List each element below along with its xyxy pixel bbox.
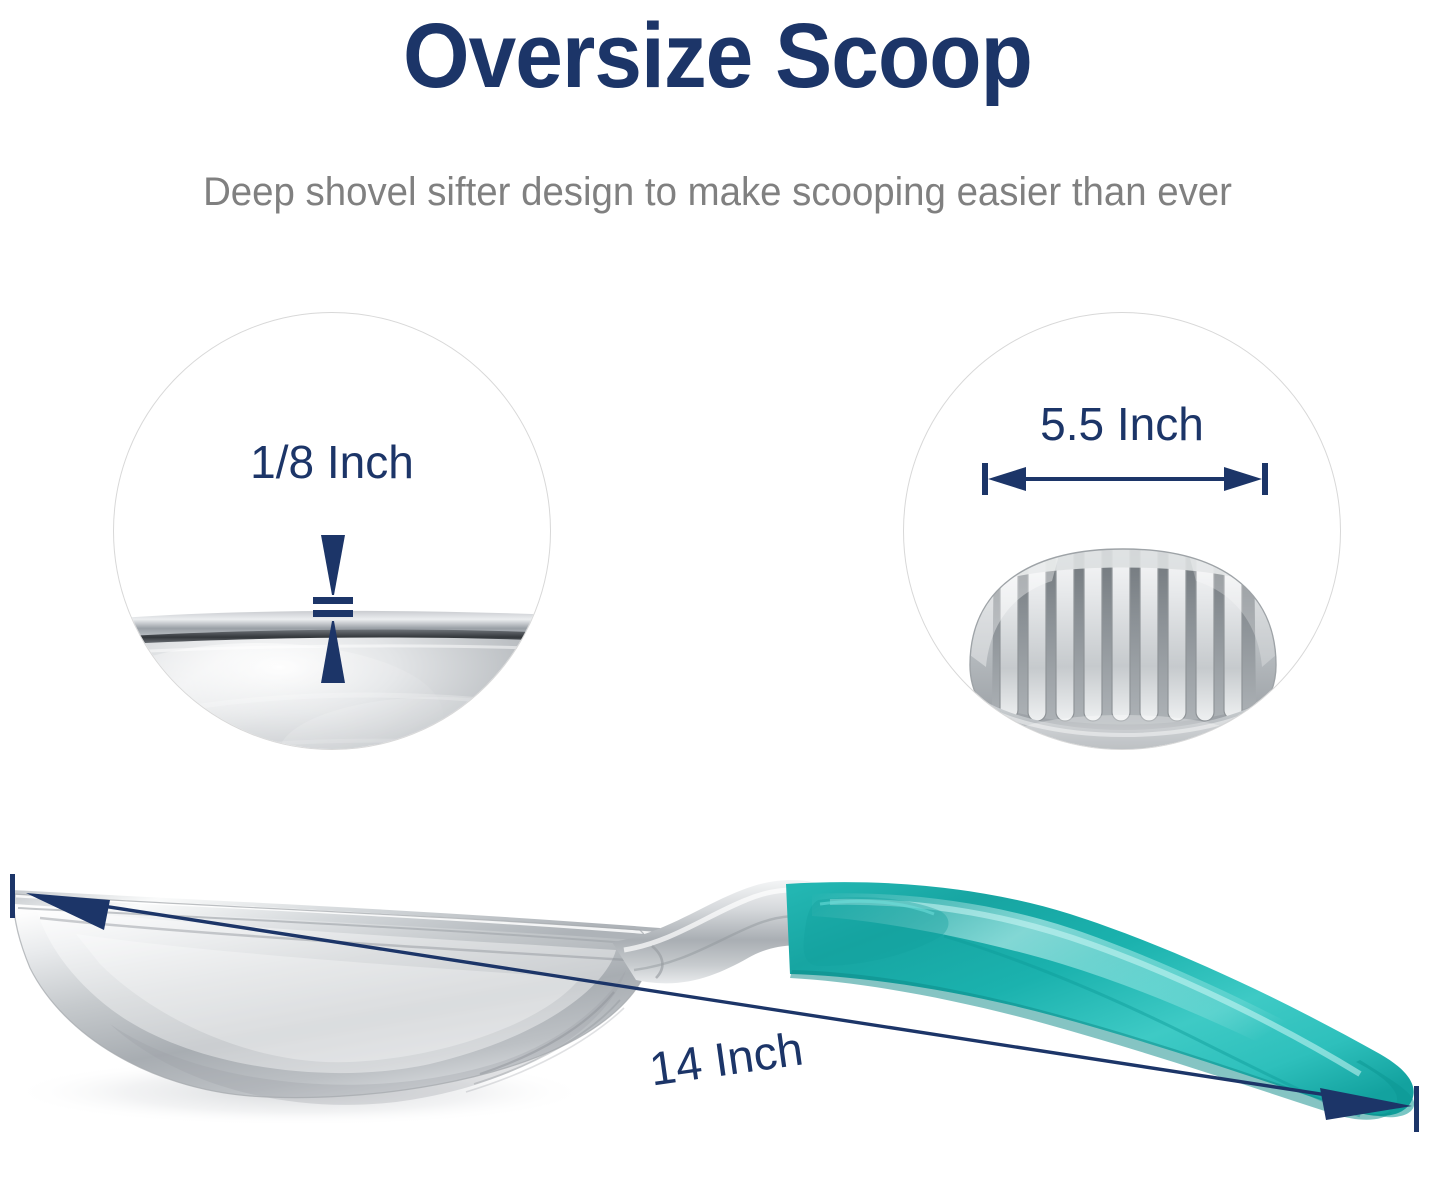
header: Oversize Scoop Deep shovel sifter design… bbox=[0, 0, 1435, 240]
scoop-product-illustration bbox=[0, 838, 1435, 1189]
product-photo bbox=[0, 838, 1435, 1189]
width-dimension-label: 5.5 Inch bbox=[904, 397, 1340, 451]
product-infographic: Oversize Scoop Deep shovel sifter design… bbox=[0, 0, 1435, 1189]
detail-circle-width: 5.5 Inch bbox=[903, 312, 1341, 750]
detail-circle-thickness: 1/8 Inch bbox=[113, 312, 551, 750]
horizontal-double-arrow-icon bbox=[982, 461, 1268, 497]
page-subtitle: Deep shovel sifter design to make scoopi… bbox=[29, 168, 1407, 216]
page-title: Oversize Scoop bbox=[50, 4, 1385, 108]
thickness-dimension-label: 1/8 Inch bbox=[114, 435, 550, 489]
vertical-double-arrow-icon bbox=[313, 535, 353, 683]
sifter-head-image bbox=[956, 535, 1290, 750]
